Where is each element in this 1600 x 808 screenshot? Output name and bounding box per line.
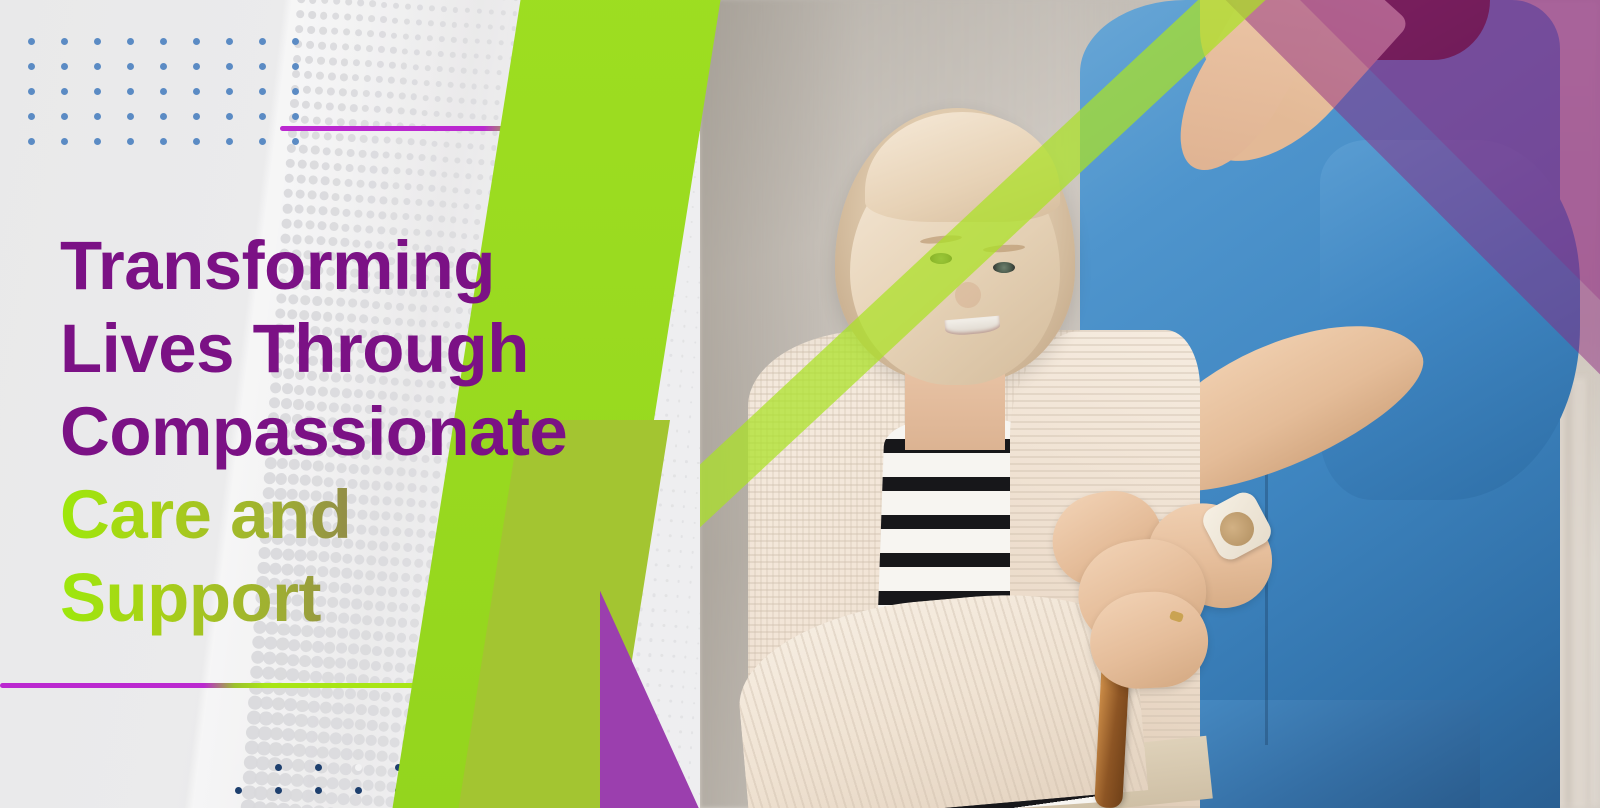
halftone-dot	[321, 162, 330, 171]
halftone-dot	[548, 14, 552, 18]
halftone-dot	[300, 804, 314, 808]
halftone-dot	[386, 92, 393, 99]
halftone-dot	[394, 662, 404, 672]
halftone-dot	[573, 1, 577, 5]
halftone-dot	[417, 4, 423, 10]
halftone-dot	[523, 27, 528, 32]
halftone-dot	[513, 0, 518, 1]
halftone-dot	[341, 733, 353, 745]
halftone-dot	[559, 30, 563, 34]
halftone-dot	[356, 14, 363, 21]
navy-dot	[275, 764, 282, 771]
halftone-dot	[571, 211, 576, 216]
halftone-dot	[455, 652, 464, 661]
halftone-dot	[427, 710, 437, 720]
halftone-dot	[458, 97, 464, 103]
halftone-dot	[690, 220, 693, 223]
halftone-dot	[464, 188, 471, 195]
halftone-dot	[416, 694, 426, 704]
halftone-dot	[536, 704, 543, 711]
halftone-dot	[332, 177, 341, 186]
halftone-dot	[691, 732, 694, 735]
halftone-dot	[502, 671, 510, 679]
halftone-dot	[681, 701, 684, 704]
halftone-dot	[403, 708, 413, 718]
halftone-dot	[355, 704, 367, 716]
blue-dot	[94, 138, 101, 145]
halftone-dot	[438, 216, 445, 223]
halftone-dot	[666, 53, 669, 56]
blue-dot	[160, 138, 167, 145]
halftone-dot	[572, 707, 578, 713]
halftone-dot	[346, 148, 355, 157]
halftone-dot	[647, 668, 651, 672]
halftone-dot	[405, 3, 412, 10]
halftone-dot	[410, 94, 417, 101]
halftone-dot	[487, 24, 492, 29]
halftone-dot	[642, 743, 646, 747]
halftone-dot	[612, 650, 617, 655]
halftone-dot	[660, 143, 663, 146]
halftone-dot	[472, 68, 478, 74]
halftone-dot	[522, 42, 527, 47]
halftone-dot	[501, 176, 507, 182]
halftone-dot	[635, 156, 638, 159]
halftone-dot	[404, 18, 411, 25]
halftone-dot	[452, 697, 461, 706]
halftone-dot	[306, 715, 319, 728]
blue-dot	[259, 138, 266, 145]
halftone-dot	[684, 656, 687, 659]
halftone-dot	[336, 642, 348, 654]
blue-dot	[127, 38, 134, 45]
halftone-dot	[626, 801, 631, 806]
blue-dot-row	[28, 57, 325, 82]
halftone-dot	[445, 111, 452, 118]
halftone-dot	[624, 651, 628, 655]
blue-dot	[61, 63, 68, 70]
halftone-dot	[619, 726, 624, 731]
halftone-dot	[580, 77, 584, 81]
halftone-dot	[606, 740, 611, 745]
halftone-dot	[425, 50, 432, 57]
halftone-dot	[364, 75, 372, 83]
halftone-dot	[538, 163, 543, 168]
halftone-dot	[518, 102, 523, 107]
halftone-dot	[629, 757, 633, 761]
halftone-dot	[689, 70, 691, 72]
halftone-dot	[308, 11, 316, 19]
halftone-dot	[524, 192, 530, 198]
halftone-dot	[476, 699, 484, 707]
halftone-dot	[354, 209, 363, 218]
halftone-dot	[344, 178, 353, 187]
halftone-dot	[330, 42, 338, 50]
halftone-dot	[661, 804, 665, 808]
halftone-dot	[485, 745, 493, 753]
halftone-dot	[535, 28, 540, 33]
halftone-dot	[686, 115, 688, 117]
halftone-dot	[404, 693, 414, 703]
halftone-dot	[584, 17, 588, 21]
halftone-dot	[572, 16, 576, 20]
halftone-dot	[324, 641, 336, 653]
halftone-dot	[452, 22, 458, 28]
halftone-dot	[406, 153, 413, 160]
navy-dot	[395, 787, 402, 794]
halftone-dot	[298, 669, 311, 682]
halftone-dot	[446, 96, 452, 102]
halftone-dot	[634, 171, 638, 175]
halftone-dot	[505, 116, 511, 122]
halftone-dot	[569, 752, 575, 758]
halftone-dot	[536, 193, 541, 198]
halftone-dot	[511, 26, 516, 31]
halftone-dot	[657, 7, 660, 10]
halftone-dot	[321, 686, 334, 699]
halftone-dot	[600, 649, 605, 654]
halftone-dot	[530, 103, 535, 108]
halftone-dot	[584, 197, 588, 201]
halftone-dot	[481, 804, 490, 808]
halftone-dot	[674, 114, 677, 117]
halftone-dot	[555, 90, 560, 95]
blue-dot	[292, 38, 299, 45]
halftone-dot	[387, 77, 394, 84]
halftone-dot	[548, 705, 555, 712]
halftone-dot	[347, 134, 355, 142]
halftone-dot	[408, 648, 418, 658]
halftone-dot	[546, 44, 551, 49]
halftone-dot	[504, 131, 510, 137]
halftone-dot	[623, 155, 627, 159]
halftone-dot	[503, 656, 511, 664]
halftone-dot	[657, 173, 660, 176]
halftone-dot	[483, 84, 489, 90]
halftone-dot	[533, 58, 538, 63]
halftone-dot	[569, 61, 573, 65]
halftone-dot	[431, 650, 440, 659]
halftone-dot	[377, 736, 388, 747]
halftone-dot	[587, 152, 591, 156]
halftone-dot	[643, 728, 647, 732]
halftone-dot	[296, 699, 309, 712]
halftone-dot	[559, 210, 564, 215]
halftone-dot	[380, 16, 387, 23]
halftone-dot	[419, 139, 426, 146]
halftone-dot	[304, 745, 317, 758]
halftone-dot	[641, 66, 644, 69]
halftone-dot	[620, 20, 623, 23]
halftone-dot	[453, 7, 459, 13]
halftone-dot	[321, 0, 329, 4]
halftone-dot	[447, 81, 453, 87]
halftone-dot	[437, 741, 447, 751]
halftone-dot	[552, 645, 558, 651]
halftone-dot	[296, 10, 304, 18]
halftone-dot	[609, 184, 613, 188]
halftone-dot	[583, 723, 589, 729]
halftone-dot	[618, 741, 623, 746]
halftone-dot	[631, 36, 634, 39]
halftone-dot	[402, 723, 413, 734]
halftone-dot	[331, 192, 340, 201]
halftone-dot	[525, 688, 532, 695]
halftone-dot	[513, 177, 519, 183]
headline-line-3: Compassionate	[60, 390, 700, 473]
halftone-dot	[692, 25, 694, 27]
halftone-dot	[697, 642, 700, 645]
halftone-dot	[602, 799, 607, 804]
blue-dot	[127, 63, 134, 70]
halftone-dot	[568, 76, 572, 80]
halftone-dot	[686, 791, 689, 794]
halftone-dot	[392, 182, 400, 190]
halftone-dot	[612, 139, 616, 143]
halftone-dot	[467, 143, 473, 149]
halftone-dot	[450, 727, 459, 736]
halftone-dot	[643, 36, 646, 39]
halftone-dot	[606, 214, 610, 218]
halftone-dot	[359, 659, 370, 670]
halftone-dot	[640, 81, 643, 84]
halftone-dot	[393, 167, 401, 175]
halftone-dot	[628, 772, 632, 776]
blue-dot	[28, 88, 35, 95]
halftone-dot	[605, 755, 610, 760]
halftone-dot	[659, 669, 663, 673]
halftone-dot	[540, 644, 547, 651]
halftone-dot	[308, 176, 317, 185]
halftone-dot	[643, 202, 646, 205]
halftone-dot	[631, 201, 635, 205]
halftone-dot	[596, 198, 600, 202]
halftone-dot	[645, 698, 649, 702]
halftone-dot	[656, 22, 659, 25]
halftone-dot	[331, 27, 339, 35]
halftone-dot	[547, 29, 551, 33]
blue-dot	[94, 113, 101, 120]
halftone-dot	[309, 0, 317, 4]
halftone-dot	[377, 61, 384, 68]
halftone-dot	[497, 55, 502, 60]
halftone-dot	[648, 142, 651, 145]
halftone-dot	[323, 656, 335, 668]
navy-dot	[555, 764, 562, 771]
halftone-dot	[556, 75, 560, 79]
halftone-dot	[535, 719, 542, 726]
halftone-dot	[595, 724, 600, 729]
halftone-dot	[619, 200, 623, 204]
halftone-dot	[486, 730, 494, 738]
halftone-dot	[419, 649, 429, 659]
halftone-dot	[425, 740, 435, 750]
halftone-dot	[618, 215, 622, 219]
halftone-dot	[378, 721, 389, 732]
halftone-dot	[285, 159, 295, 169]
halftone-dot	[354, 719, 366, 731]
halftone-dot	[534, 43, 539, 48]
halftone-dot	[628, 80, 631, 83]
halftone-dot	[655, 203, 658, 206]
halftone-dot	[560, 15, 564, 19]
halftone-dot	[361, 105, 369, 113]
halftone-dot	[573, 181, 578, 186]
halftone-dot	[421, 109, 428, 116]
halftone-dot	[369, 0, 376, 7]
halftone-dot	[599, 664, 604, 669]
halftone-dot	[633, 697, 637, 701]
halftone-dot	[481, 114, 487, 120]
halftone-dot	[453, 682, 462, 691]
halftone-dot	[548, 194, 553, 199]
halftone-dot	[461, 743, 470, 752]
halftone-dot	[452, 187, 459, 194]
nurse-scrubs-seam	[1265, 455, 1268, 745]
halftone-dot	[539, 659, 546, 666]
halftone-dot	[668, 23, 671, 26]
halftone-dot	[692, 717, 695, 720]
halftone-dot	[675, 99, 678, 102]
halftone-dot	[545, 59, 550, 64]
halftone-dot	[549, 690, 556, 697]
halftone-dot	[654, 744, 658, 748]
halftone-dot	[357, 0, 364, 7]
halftone-dot	[392, 692, 403, 703]
halftone-dot	[559, 721, 565, 727]
halftone-dot	[528, 643, 535, 650]
halftone-dot	[622, 170, 626, 174]
halftone-dot	[650, 112, 653, 115]
halftone-dot	[477, 9, 483, 15]
halftone-dot	[487, 204, 493, 210]
halftone-dot	[342, 718, 354, 730]
halftone-dot	[694, 687, 697, 690]
halftone-dot	[585, 182, 589, 186]
halftone-dot	[357, 164, 365, 172]
halftone-dot	[691, 206, 693, 208]
halftone-dot	[460, 67, 466, 73]
navy-dot	[475, 787, 482, 794]
halftone-dot	[335, 657, 347, 669]
halftone-dot	[551, 660, 557, 666]
halftone-dot	[668, 715, 671, 718]
navy-dot	[435, 787, 442, 794]
halftone-dot	[366, 720, 378, 732]
halftone-dot	[646, 683, 650, 687]
halftone-dot	[543, 89, 548, 94]
halftone-dot	[563, 661, 569, 667]
halftone-dot	[693, 176, 695, 178]
halftone-dot	[690, 747, 693, 750]
halftone-dot	[616, 771, 621, 776]
halftone-dot	[675, 775, 678, 778]
halftone-dot	[606, 49, 610, 53]
halftone-dot	[510, 732, 518, 740]
halftone-dot	[374, 91, 382, 99]
halftone-dot	[414, 49, 421, 56]
blue-dot	[193, 38, 200, 45]
halftone-dot	[485, 54, 491, 60]
halftone-dot	[679, 205, 682, 208]
halftone-dot	[418, 154, 425, 161]
halftone-dot	[538, 674, 545, 681]
halftone-dot	[454, 667, 463, 676]
halftone-dot	[402, 48, 409, 55]
halftone-dot	[607, 199, 611, 203]
halftone-dot	[696, 131, 698, 133]
halftone-dot	[427, 200, 434, 207]
navy-dot	[235, 787, 242, 794]
halftone-dot	[578, 107, 582, 111]
halftone-dot	[597, 3, 601, 7]
halftone-dot	[351, 89, 359, 97]
blue-dot	[127, 113, 134, 120]
halftone-dot	[476, 189, 482, 195]
halftone-dot	[526, 163, 531, 168]
halftone-dot	[595, 33, 599, 37]
halftone-dot	[396, 647, 406, 657]
halftone-dot	[391, 707, 402, 718]
halftone-dot	[378, 211, 386, 219]
halftone-dot	[691, 40, 693, 42]
halftone-dot	[416, 184, 423, 191]
halftone-dot	[536, 13, 541, 18]
halftone-dot	[439, 201, 446, 208]
halftone-dot	[299, 654, 312, 667]
halftone-dot	[695, 146, 697, 148]
navy-dot	[395, 764, 402, 771]
halftone-dot	[636, 652, 640, 656]
halftone-dot	[329, 57, 337, 65]
halftone-dot	[639, 787, 643, 791]
halftone-dot	[645, 172, 648, 175]
halftone-dot	[677, 69, 680, 72]
halftone-dot	[611, 154, 615, 158]
halftone-dot	[535, 208, 540, 213]
halftone-dot	[605, 64, 609, 68]
halftone-dot	[391, 197, 399, 205]
halftone-dot	[404, 183, 412, 191]
halftone-dot	[499, 205, 505, 211]
halftone-dot	[442, 666, 451, 675]
halftone-dot	[584, 708, 590, 714]
halftone-dot	[288, 638, 301, 651]
halftone-dot	[608, 710, 613, 715]
halftone-dot	[462, 728, 471, 737]
halftone-dot	[429, 170, 436, 177]
halftone-dot	[523, 718, 530, 725]
halftone-dot	[524, 703, 531, 710]
halftone-dot	[435, 80, 442, 87]
halftone-dot	[540, 134, 545, 139]
halftone-dot	[443, 141, 450, 148]
halftone-dot	[426, 725, 436, 735]
halftone-dot	[343, 28, 351, 36]
halftone-dot	[514, 672, 521, 679]
blue-dot-row	[28, 132, 325, 157]
halftone-dot	[620, 185, 624, 189]
halftone-dot	[594, 739, 599, 744]
blue-dot-row	[28, 32, 325, 57]
halftone-dot	[333, 0, 341, 5]
halftone-dot	[415, 34, 422, 41]
halftone-dot	[510, 41, 515, 46]
halftone-dot	[334, 148, 343, 157]
halftone-dot	[450, 217, 457, 224]
halftone-dot	[632, 21, 635, 24]
blue-dot	[259, 113, 266, 120]
